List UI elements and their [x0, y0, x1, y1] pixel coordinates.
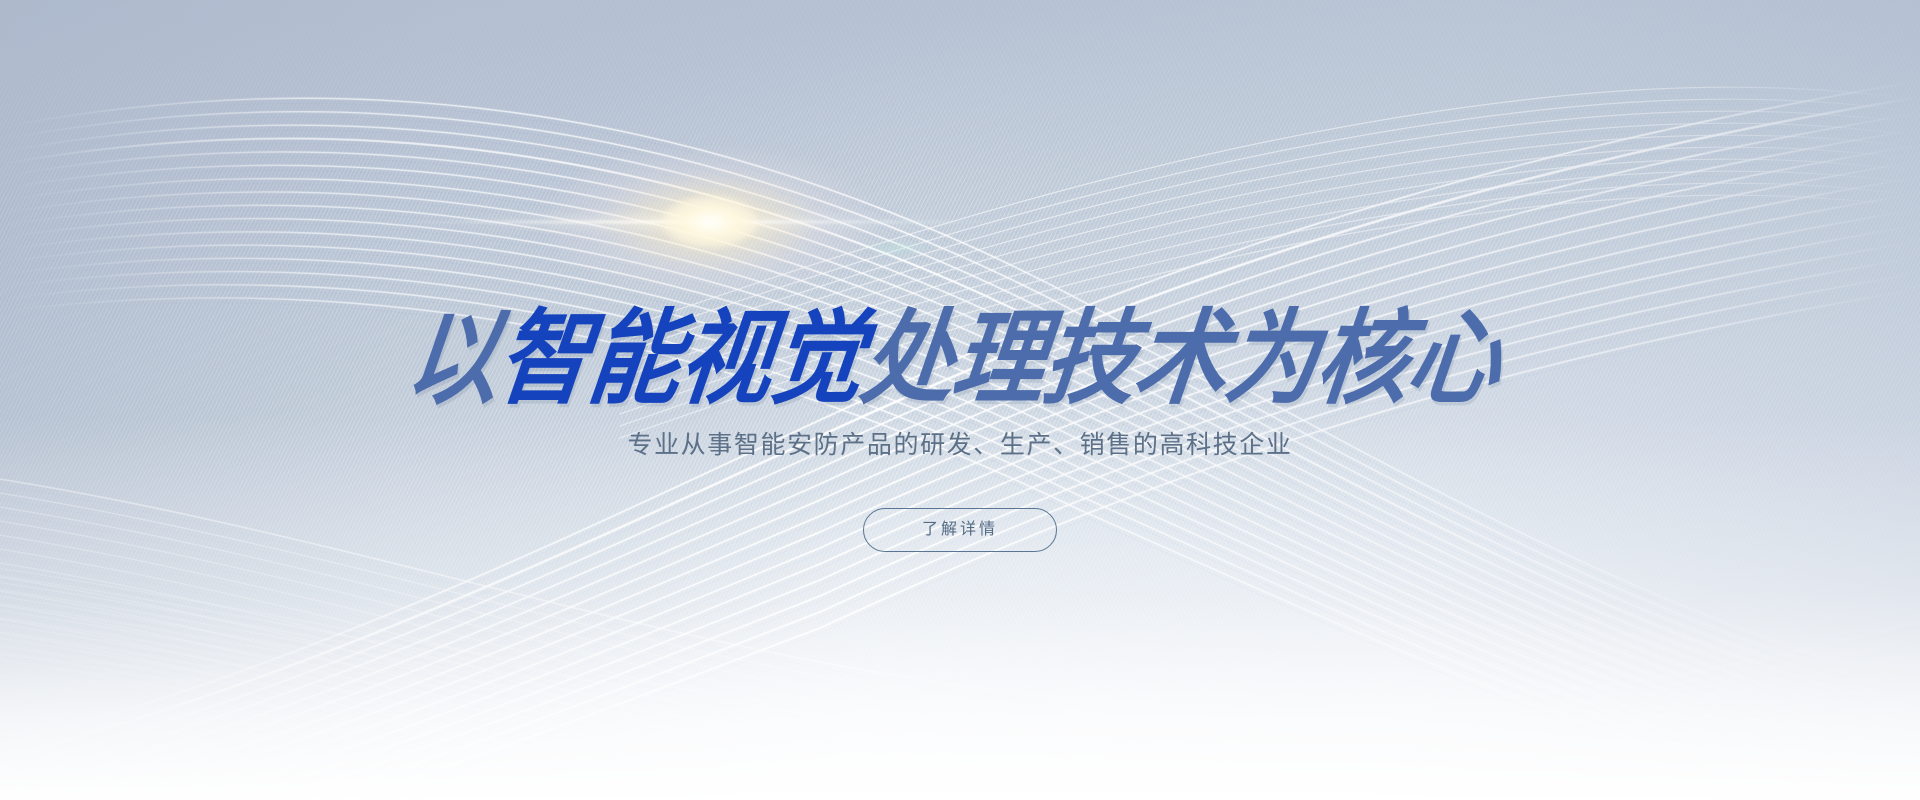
- headline-segment-trailing: 处理技术为核心: [856, 302, 1507, 416]
- headline-segment-leading: 以: [401, 302, 506, 416]
- hero-banner: 以智能视觉处理技术为核心 专业从事智能安防产品的研发、生产、销售的高科技企业 了…: [0, 0, 1920, 800]
- hero-subtitle: 专业从事智能安防产品的研发、生产、销售的高科技企业: [0, 427, 1920, 465]
- hero-cta-container: 了解详情: [0, 508, 1920, 552]
- hero-content: 以智能视觉处理技术为核心 专业从事智能安防产品的研发、生产、销售的高科技企业 了…: [0, 0, 1920, 800]
- headline-segment-emphasis: 智能视觉: [492, 302, 870, 416]
- learn-more-button[interactable]: 了解详情: [863, 508, 1057, 552]
- hero-headline: 以智能视觉处理技术为核心: [0, 308, 1920, 411]
